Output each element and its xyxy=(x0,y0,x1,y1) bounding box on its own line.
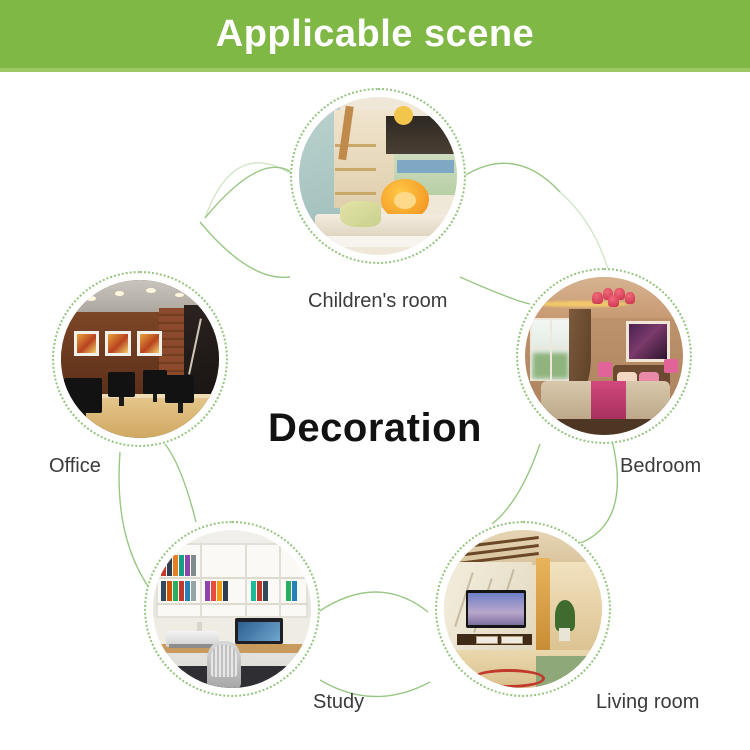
scene-node-study[interactable] xyxy=(144,521,320,697)
scene-node-office[interactable] xyxy=(52,271,228,447)
scene-label-children-room: Children's room xyxy=(308,291,447,311)
page-title: Applicable scene xyxy=(216,15,534,53)
scene-diagram: Decoration Children's room xyxy=(0,72,750,750)
study-photo xyxy=(153,530,311,688)
office-photo xyxy=(61,280,219,438)
scene-node-living-room[interactable] xyxy=(435,521,611,697)
living-room-photo xyxy=(444,530,602,688)
scene-label-study: Study xyxy=(313,692,364,712)
scene-label-bedroom: Bedroom xyxy=(620,456,701,476)
bedroom-photo xyxy=(525,277,683,435)
scene-label-office: Office xyxy=(49,456,101,476)
scene-label-living-room: Living room xyxy=(596,692,699,712)
scene-node-bedroom[interactable] xyxy=(516,268,692,444)
scene-node-children-room[interactable] xyxy=(290,88,466,264)
header-banner: Applicable scene xyxy=(0,0,750,68)
children-room-photo xyxy=(299,97,457,255)
